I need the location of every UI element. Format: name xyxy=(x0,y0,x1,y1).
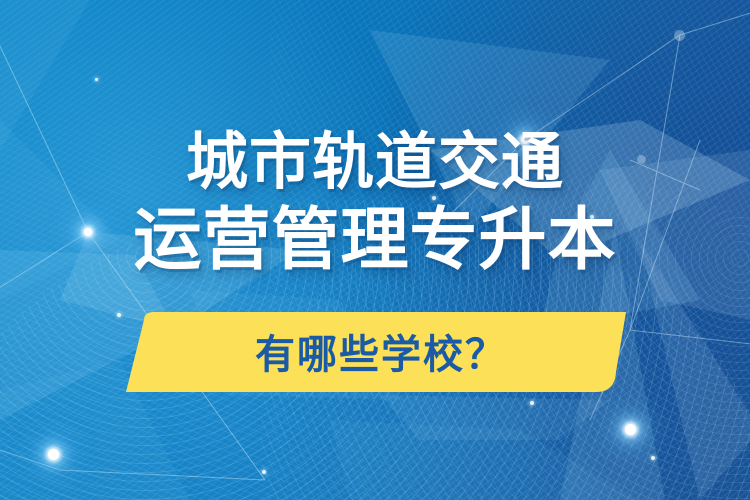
promo-banner: 城市轨道交通 运营管理专升本 有哪些学校？ xyxy=(0,0,750,500)
subtitle-ribbon: 有哪些学校？ xyxy=(122,310,628,394)
network-lines xyxy=(0,0,750,500)
ribbon-label: 有哪些学校？ xyxy=(122,310,628,394)
